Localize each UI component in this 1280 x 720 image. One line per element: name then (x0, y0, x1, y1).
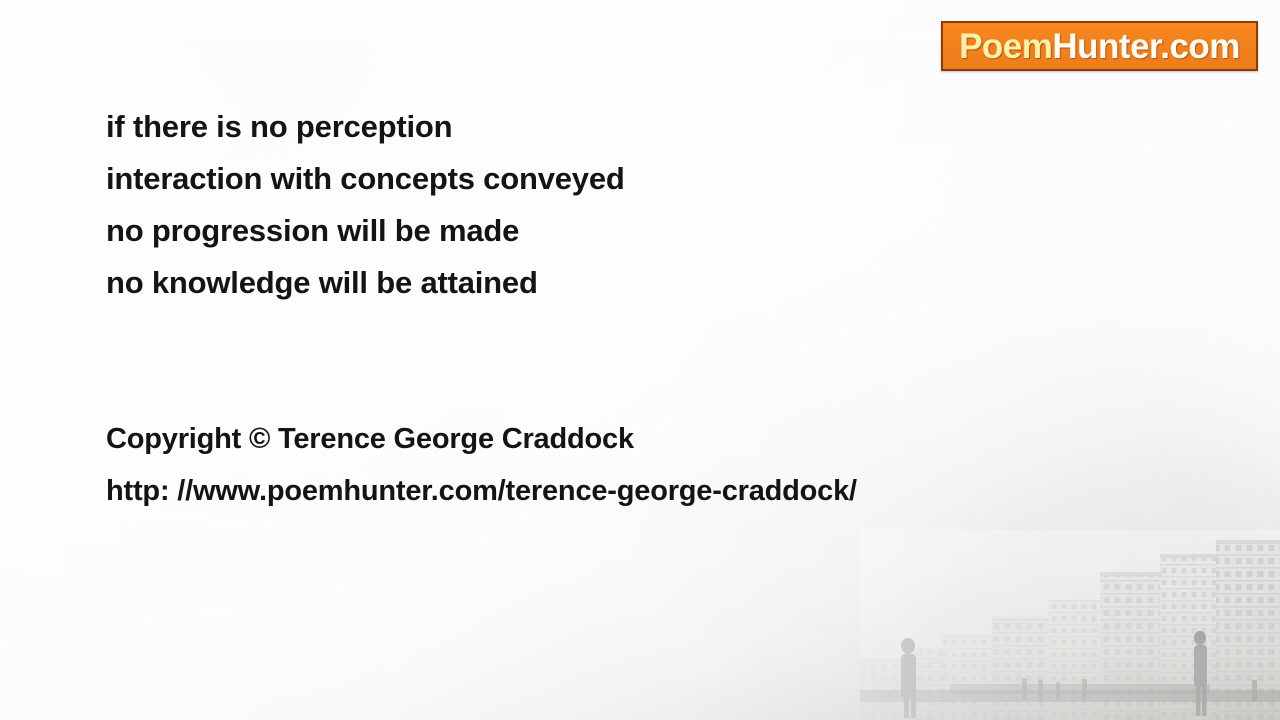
poem-image-canvas: PoemHunter.com if there is no perception… (0, 0, 1280, 720)
text-layer: if there is no perception interaction wi… (0, 0, 1280, 720)
poem-text-block: if there is no perception interaction wi… (106, 101, 625, 309)
poem-line: no progression will be made (106, 205, 625, 257)
author-url-line[interactable]: http: //www.poemhunter.com/terence-georg… (106, 465, 857, 517)
credit-block: Copyright © Terence George Craddock http… (106, 413, 857, 517)
poem-line: no knowledge will be attained (106, 257, 625, 309)
poem-line: interaction with concepts conveyed (106, 153, 625, 205)
copyright-line: Copyright © Terence George Craddock (106, 413, 857, 465)
poem-line: if there is no perception (106, 101, 625, 153)
